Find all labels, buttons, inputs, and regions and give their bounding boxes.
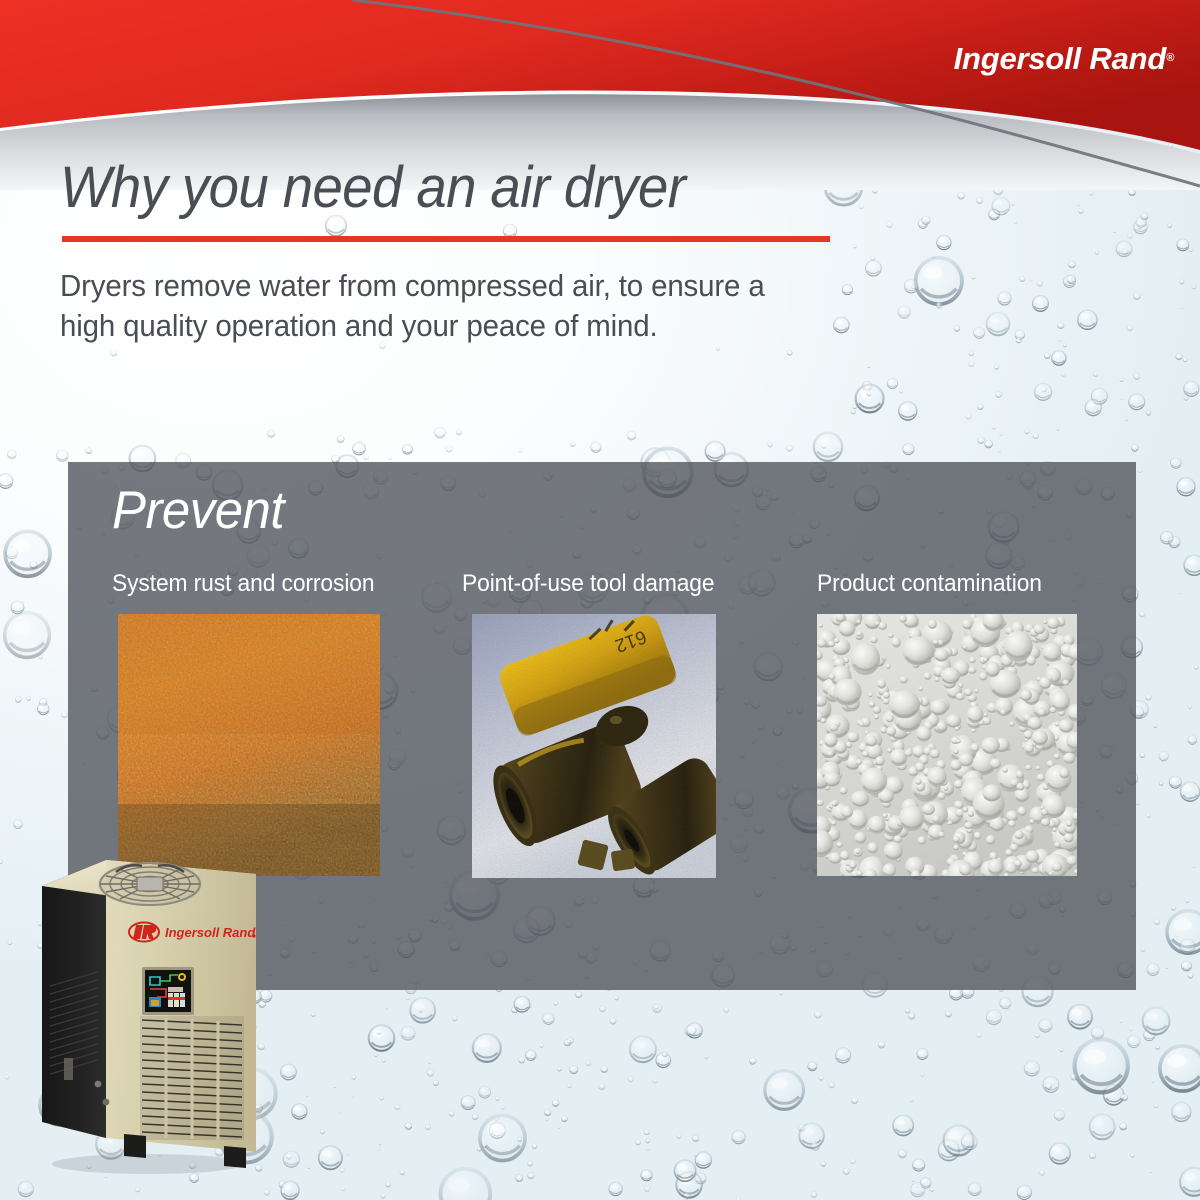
ir-monogram-icon [853, 27, 945, 83]
brand-name: Ingersoll Rand® [954, 43, 1174, 74]
page-subtitle: Dryers remove water from compressed air,… [60, 266, 915, 347]
registered-mark: ® [1166, 52, 1174, 64]
damaged-pneumatic-tools-image: 612 [472, 614, 716, 878]
poster-canvas: Ingersoll Rand® Why you need an air drye… [0, 0, 1200, 1200]
page-title: Why you need an air dryer [60, 158, 685, 218]
ingersoll-rand-logo: Ingersoll Rand® [853, 26, 1174, 84]
prevent-heading: Prevent [112, 484, 284, 537]
card-caption: Product contamination [817, 570, 1042, 598]
refrigerated-air-dryer-unit: Ingersoll Rand [28, 826, 264, 1176]
subtitle-line-1: Dryers remove water from compressed air,… [60, 266, 915, 306]
subtitle-line-2: high quality operation and your peace of… [60, 306, 915, 346]
card-caption: System rust and corrosion [112, 570, 374, 598]
svg-text:Ingersoll Rand: Ingersoll Rand [165, 925, 256, 940]
blistered-paint-surface-image [817, 614, 1077, 876]
title-accent-rule [62, 236, 830, 242]
card-caption: Point-of-use tool damage [462, 570, 714, 598]
